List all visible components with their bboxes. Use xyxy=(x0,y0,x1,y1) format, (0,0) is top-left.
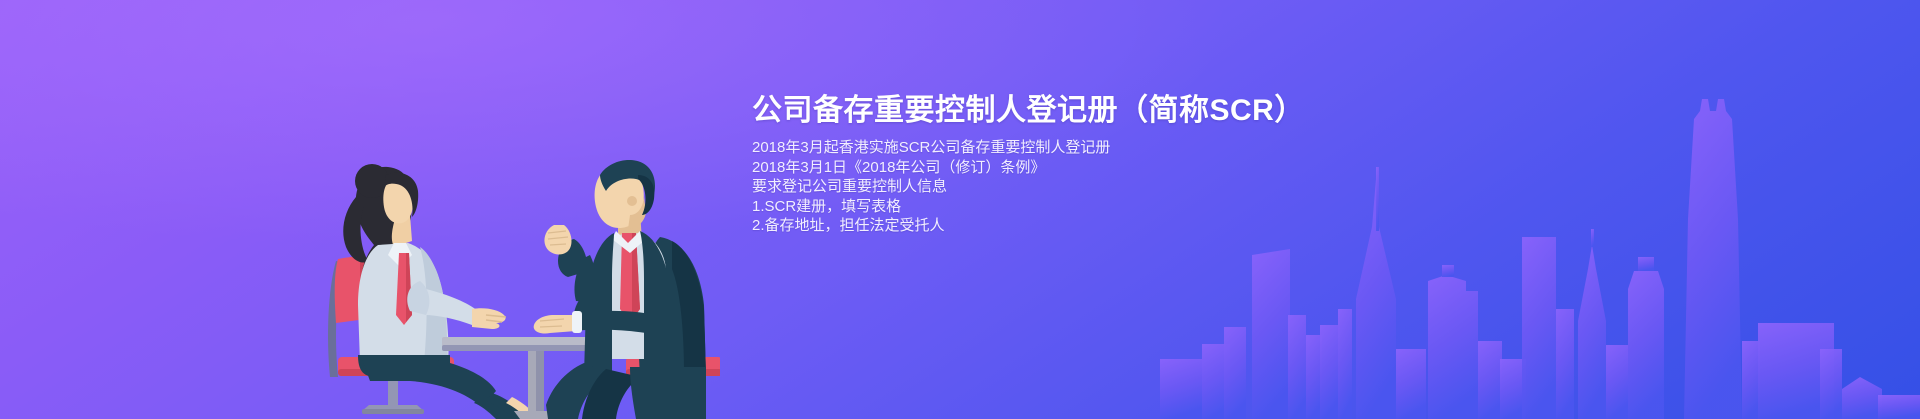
description-line-4: 1.SCR建册，填写表格 xyxy=(752,197,1452,217)
description-line-2: 2018年3月1日《2018年公司（修订）条例》 xyxy=(752,158,1452,178)
description-line-5: 2.备存地址，担任法定受托人 xyxy=(752,216,1452,236)
description-line-1: 2018年3月起香港实施SCR公司备存重要控制人登记册 xyxy=(752,138,1452,158)
two-business-people-illustration xyxy=(300,119,720,419)
banner-copy: 公司备存重要控制人登记册（简称SCR） 2018年3月起香港实施SCR公司备存重… xyxy=(752,92,1452,236)
banner-title: 公司备存重要控制人登记册（简称SCR） xyxy=(752,92,1452,130)
description-line-3: 要求登记公司重要控制人信息 xyxy=(752,177,1452,197)
banner-description-list: 2018年3月起香港实施SCR公司备存重要控制人登记册 2018年3月1日《20… xyxy=(752,138,1452,236)
scr-promo-banner: 公司备存重要控制人登记册（简称SCR） 2018年3月起香港实施SCR公司备存重… xyxy=(0,0,1920,419)
